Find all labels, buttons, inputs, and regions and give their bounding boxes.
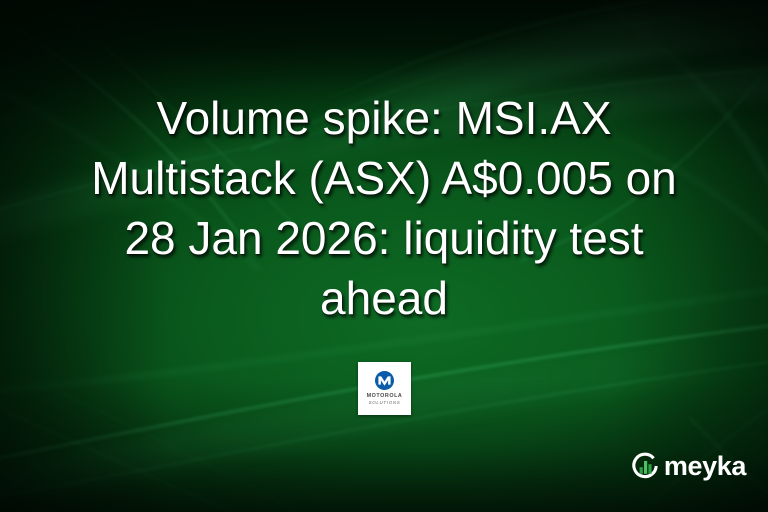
share-card-canvas: Volume spike: MSI.AX Multistack (ASX) A$… xyxy=(0,0,768,512)
brand-name: meyka xyxy=(664,453,746,480)
motorola-batwing-icon xyxy=(375,371,394,390)
brand-watermark: meyka xyxy=(629,450,746,482)
company-logo-subtitle: SOLUTIONS xyxy=(369,400,401,406)
company-logo-card: MOTOROLA SOLUTIONS xyxy=(358,362,411,415)
meyka-bar-chart-circle-icon xyxy=(629,450,661,482)
company-logo-name: MOTOROLA xyxy=(367,393,403,400)
headline-block: Volume spike: MSI.AX Multistack (ASX) A$… xyxy=(0,88,768,328)
page-title: Volume spike: MSI.AX Multistack (ASX) A$… xyxy=(26,88,742,328)
